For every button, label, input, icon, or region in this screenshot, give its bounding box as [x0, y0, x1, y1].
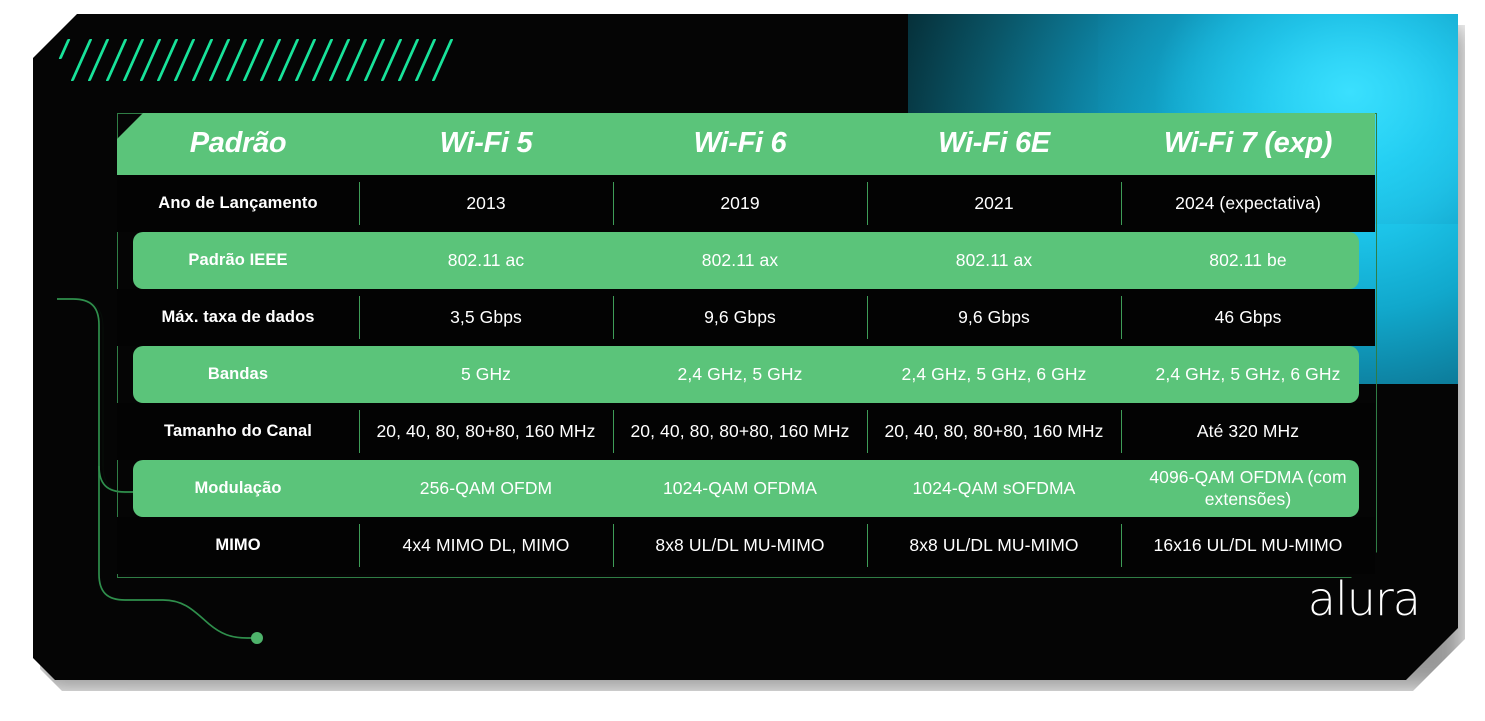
cell-wifi7: Até 320 MHz — [1121, 403, 1375, 460]
diagonal-slash-icon — [174, 39, 196, 81]
row-label: Bandas — [117, 346, 359, 403]
table-row: Ano de Lançamento2013201920212024 (expec… — [117, 175, 1375, 232]
column-divider — [867, 182, 868, 225]
cell-wifi6e: 9,6 Gbps — [867, 289, 1121, 346]
table-row: Padrão IEEE802.11 ac802.11 ax802.11 ax80… — [117, 232, 1375, 289]
cell-wifi5: 802.11 ac — [359, 232, 613, 289]
cell-wifi5: 5 GHz — [359, 346, 613, 403]
row-label: Máx. taxa de dados — [117, 289, 359, 346]
cell-wifi5: 20, 40, 80, 80+80, 160 MHz — [359, 403, 613, 460]
column-header-wifi7: Wi-Fi 7 (exp) — [1121, 113, 1375, 175]
table-header-row: Padrão Wi-Fi 5 Wi-Fi 6 Wi-Fi 6E Wi-Fi 7 … — [117, 113, 1375, 175]
cell-wifi6e: 20, 40, 80, 80+80, 160 MHz — [867, 403, 1121, 460]
column-header-label: Padrão — [117, 113, 359, 175]
diagonal-slash-icon — [346, 39, 368, 81]
column-header-wifi5: Wi-Fi 5 — [359, 113, 613, 175]
comparison-table: Padrão Wi-Fi 5 Wi-Fi 6 Wi-Fi 6E Wi-Fi 7 … — [117, 113, 1375, 574]
cell-wifi6e: 802.11 ax — [867, 232, 1121, 289]
cell-wifi7: 4096-QAM OFDMA (com extensões) — [1121, 460, 1375, 517]
column-header-wifi6: Wi-Fi 6 — [613, 113, 867, 175]
row-label: Padrão IEEE — [117, 232, 359, 289]
column-header-wifi6e: Wi-Fi 6E — [867, 113, 1121, 175]
table-row: MIMO4x4 MIMO DL, MIMO8x8 UL/DL MU-MIMO8x… — [117, 517, 1375, 574]
column-divider — [867, 296, 868, 339]
table-row: Máx. taxa de dados3,5 Gbps9,6 Gbps9,6 Gb… — [117, 289, 1375, 346]
diagonal-slash-icon — [260, 39, 282, 81]
diagonal-slash-icon — [63, 39, 483, 91]
column-divider — [613, 296, 614, 339]
cell-wifi7: 46 Gbps — [1121, 289, 1375, 346]
column-divider — [1121, 524, 1122, 567]
cell-wifi6: 20, 40, 80, 80+80, 160 MHz — [613, 403, 867, 460]
column-divider — [1121, 296, 1122, 339]
column-divider — [613, 524, 614, 567]
cell-wifi6e: 2,4 GHz, 5 GHz, 6 GHz — [867, 346, 1121, 403]
cell-wifi6: 2,4 GHz, 5 GHz — [613, 346, 867, 403]
cell-wifi6: 9,6 Gbps — [613, 289, 867, 346]
table-row: Bandas5 GHz2,4 GHz, 5 GHz2,4 GHz, 5 GHz,… — [117, 346, 1375, 403]
column-divider — [359, 182, 360, 225]
cell-wifi5: 256-QAM OFDM — [359, 460, 613, 517]
column-divider — [867, 524, 868, 567]
cell-wifi6: 2019 — [613, 175, 867, 232]
cell-wifi5: 3,5 Gbps — [359, 289, 613, 346]
column-divider — [1121, 182, 1122, 225]
column-divider — [613, 410, 614, 453]
column-divider — [613, 182, 614, 225]
cell-wifi5: 2013 — [359, 175, 613, 232]
column-divider — [867, 410, 868, 453]
infographic-card: Padrão Wi-Fi 5 Wi-Fi 6 Wi-Fi 6E Wi-Fi 7 … — [33, 14, 1458, 680]
column-divider — [1121, 410, 1122, 453]
alura-logo: alura — [1308, 576, 1420, 622]
diagonal-slash-icon — [88, 39, 110, 81]
infographic-stage: Padrão Wi-Fi 5 Wi-Fi 6 Wi-Fi 6E Wi-Fi 7 … — [0, 0, 1485, 721]
cell-wifi5: 4x4 MIMO DL, MIMO — [359, 517, 613, 574]
cell-wifi6e: 8x8 UL/DL MU-MIMO — [867, 517, 1121, 574]
cell-wifi6: 1024-QAM OFDMA — [613, 460, 867, 517]
row-label: MIMO — [117, 517, 359, 574]
cell-wifi7: 2,4 GHz, 5 GHz, 6 GHz — [1121, 346, 1375, 403]
cell-wifi7: 2024 (expectativa) — [1121, 175, 1375, 232]
diagonal-slash-icon — [432, 39, 454, 81]
table-row: Tamanho do Canal20, 40, 80, 80+80, 160 M… — [117, 403, 1375, 460]
cell-wifi6: 802.11 ax — [613, 232, 867, 289]
cell-wifi7: 802.11 be — [1121, 232, 1375, 289]
diagonal-slash-icon — [59, 39, 71, 59]
row-label: Modulação — [117, 460, 359, 517]
column-divider — [359, 296, 360, 339]
table-row: Modulação256-QAM OFDM1024-QAM OFDMA1024-… — [117, 460, 1375, 517]
cell-wifi6e: 2021 — [867, 175, 1121, 232]
cell-wifi7: 16x16 UL/DL MU-MIMO — [1121, 517, 1375, 574]
row-label: Tamanho do Canal — [117, 403, 359, 460]
column-divider — [359, 524, 360, 567]
cell-wifi6: 8x8 UL/DL MU-MIMO — [613, 517, 867, 574]
row-label: Ano de Lançamento — [117, 175, 359, 232]
column-divider — [359, 410, 360, 453]
cell-wifi6e: 1024-QAM sOFDMA — [867, 460, 1121, 517]
